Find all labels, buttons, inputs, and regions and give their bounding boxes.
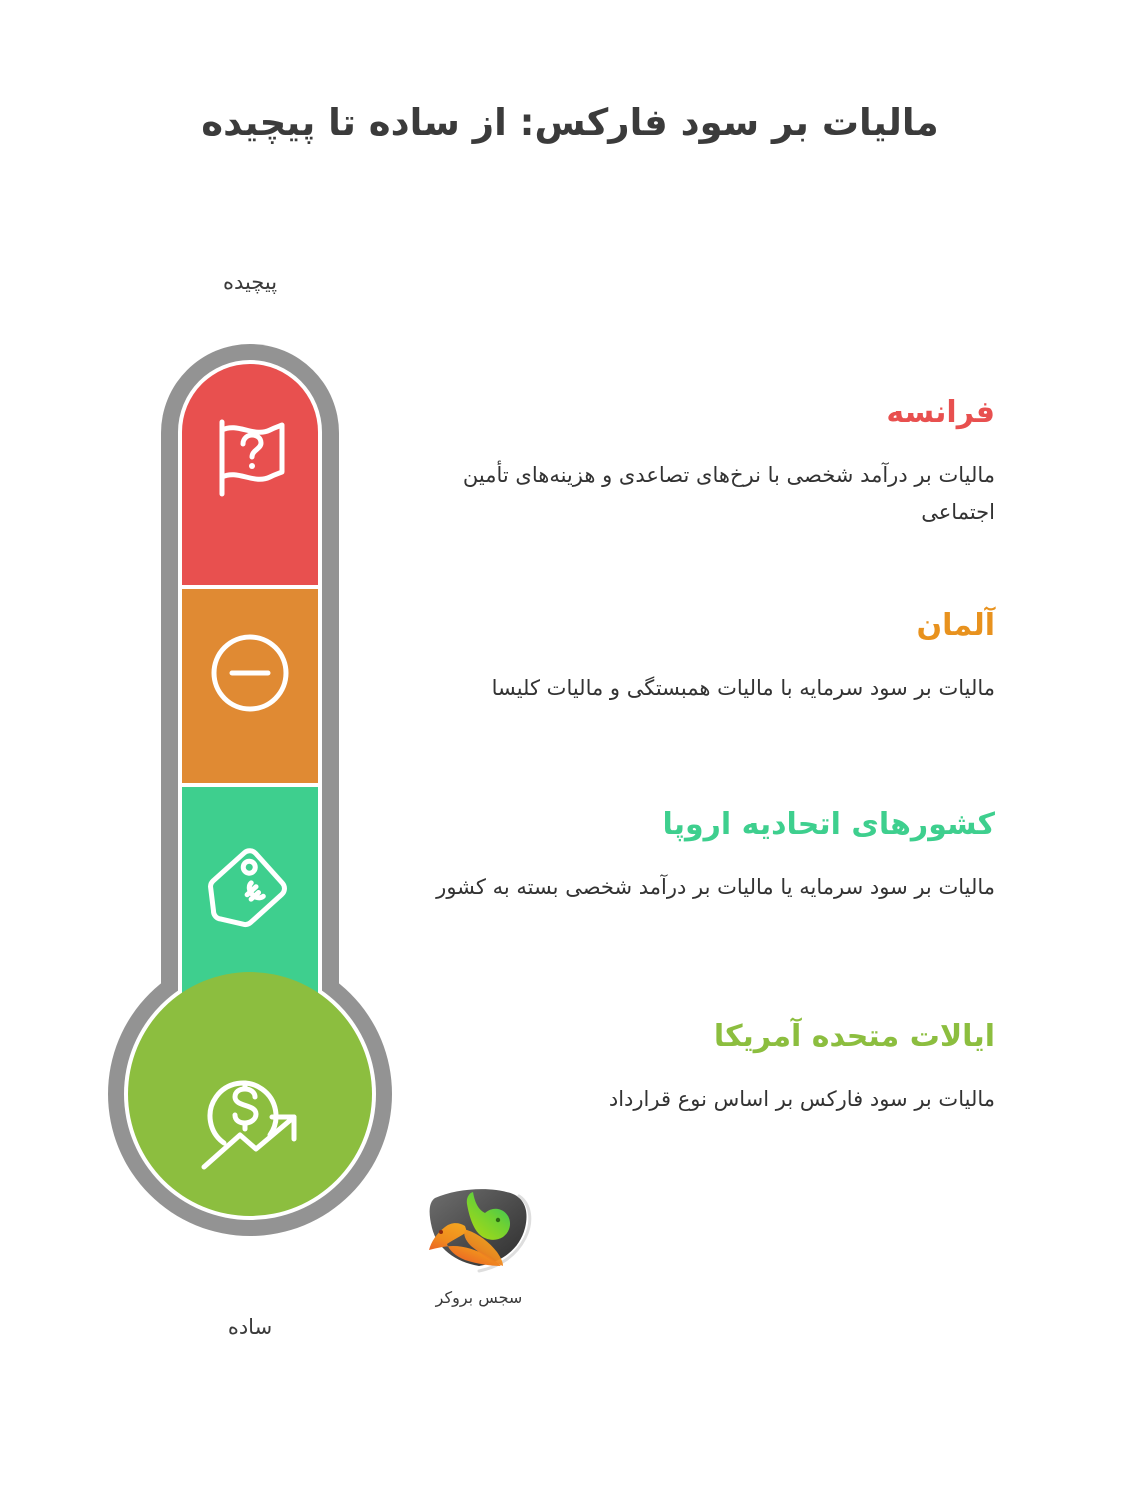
scale-label-complex: پیچیده: [100, 270, 400, 294]
bull-bear-shield-logo: [415, 1182, 543, 1286]
page-title: مالیات بر سود فارکس: از ساده تا پیچیده: [0, 100, 1140, 146]
thermometer-segment-germany: [182, 589, 318, 783]
entry-description: مالیات بر سود فارکس بر اساس نوع قرارداد: [410, 1081, 995, 1118]
entry-usa: ایالات متحده آمریکا مالیات بر سود فارکس …: [410, 1019, 995, 1118]
entry-france: فرانسه مالیات بر درآمد شخصی با نرخ‌های ت…: [410, 395, 995, 531]
thermometer-graphic: پیچیده: [100, 270, 400, 1380]
entry-germany: آلمان مالیات بر سود سرمایه با مالیات همب…: [410, 608, 995, 707]
brand-logo: سجس بروکر: [404, 1182, 554, 1307]
entry-description: مالیات بر سود سرمایه یا مالیات بر درآمد …: [410, 869, 995, 906]
entry-description: مالیات بر درآمد شخصی با نرخ‌های تصاعدی و…: [410, 457, 995, 531]
brand-logo-text: سجس بروکر: [404, 1288, 554, 1307]
entry-title: ایالات متحده آمریکا: [410, 1019, 995, 1055]
entry-eu-countries: کشورهای اتحادیه اروپا مالیات بر سود سرما…: [410, 807, 995, 906]
thermometer-segment-france: [182, 364, 318, 585]
scale-label-simple: ساده: [100, 1315, 400, 1339]
thermometer-segment-eu: [182, 787, 318, 1000]
entry-title: آلمان: [410, 608, 995, 644]
entry-description: مالیات بر سود سرمایه با مالیات همبستگی و…: [410, 670, 995, 707]
entry-title: فرانسه: [410, 395, 995, 431]
thermometer-bulb-fill: [128, 972, 372, 1216]
entry-title: کشورهای اتحادیه اروپا: [410, 807, 995, 843]
